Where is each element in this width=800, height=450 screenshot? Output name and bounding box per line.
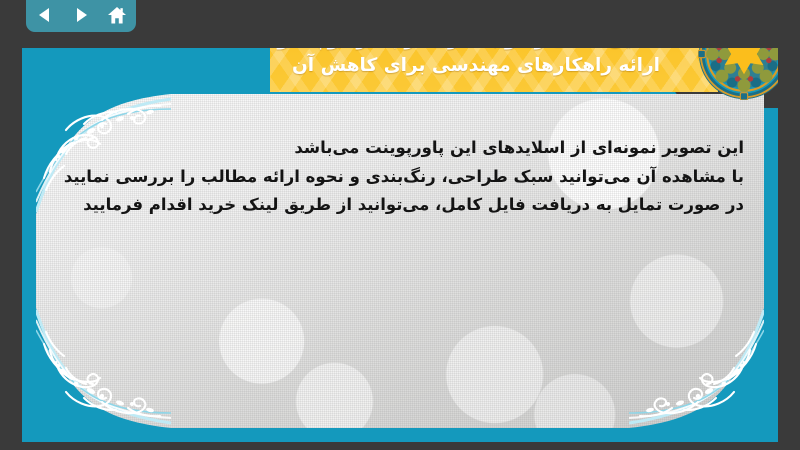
- body-line-1: این تصویر نمونه‌ای از اسلایدهای این پاور…: [42, 134, 744, 163]
- slide-body: این تصویر نمونه‌ای از اسلایدهای این پاور…: [42, 134, 744, 220]
- slide-canvas: تحلیل عددی رسوب‌گذاری در بنادر کوچک و ار…: [22, 48, 778, 442]
- persian-medallion-icon: [698, 48, 778, 100]
- forward-button[interactable]: [69, 4, 93, 26]
- body-line-3: در صورت تمایل به دریافت فایل کامل، می‌تو…: [42, 191, 744, 220]
- navigation-toolbar: [26, 0, 136, 32]
- triangle-right-icon: [72, 6, 90, 24]
- slide-title-line-2: ارائه راهکارهای مهندسی برای کاهش آن: [292, 53, 660, 79]
- slide-viewer: تحلیل عددی رسوب‌گذاری در بنادر کوچک و ار…: [0, 0, 800, 450]
- slide-title-band: تحلیل عددی رسوب‌گذاری در بنادر کوچک و ار…: [270, 48, 718, 92]
- triangle-left-icon: [36, 6, 54, 24]
- back-button[interactable]: [33, 4, 57, 26]
- home-icon: [107, 6, 127, 25]
- body-line-2: با مشاهده آن می‌توانید سبک طراحی، رنگ‌بن…: [42, 163, 744, 192]
- home-button[interactable]: [105, 4, 129, 26]
